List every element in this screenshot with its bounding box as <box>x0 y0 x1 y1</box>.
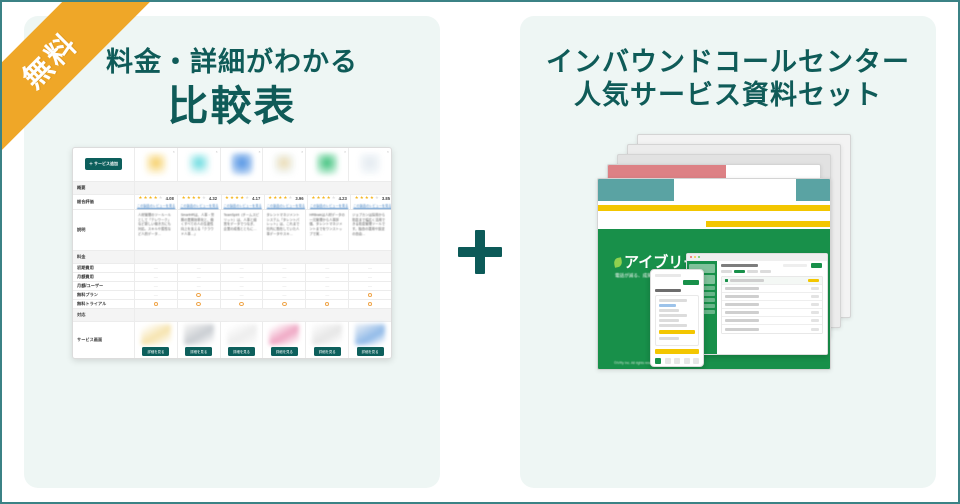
add-service-cell: ＋ サービス追加 <box>73 148 135 181</box>
value-cell: — <box>135 282 178 290</box>
item-badge <box>811 303 819 306</box>
detail-button[interactable]: 詳細を見る <box>357 347 384 356</box>
table-row: 月額費用 — — — — — — <box>73 273 391 282</box>
description-cell: タレントマネジメントシステム「タレントパレット」は、これまで社内に散在していた人… <box>263 210 306 250</box>
search-input <box>783 264 807 268</box>
detail-button[interactable]: 詳細を見る <box>185 347 212 356</box>
mobile-mockup <box>650 269 704 367</box>
service-logo-icon <box>231 153 253 175</box>
close-icon[interactable]: × <box>387 150 389 154</box>
item-label <box>725 311 759 314</box>
empty-value: — <box>325 283 329 288</box>
star-icon: ★ <box>202 196 206 201</box>
value-cell: — <box>135 273 178 281</box>
service-logo-icon <box>316 153 338 175</box>
plus-icon <box>458 230 502 274</box>
close-icon[interactable]: × <box>301 150 303 154</box>
description-text: ジョブカンは採用から勤怠まで幅広く活用できる勤怠管理ツールです。独自の運用や設定… <box>351 212 389 248</box>
value-cell <box>263 300 306 308</box>
section-spacer <box>135 309 391 321</box>
value-cell <box>349 291 391 299</box>
filter-chip <box>721 270 732 273</box>
section-label: 対応 <box>73 309 135 321</box>
rating-cells: ★★★★★4.08 この製品のレビューを見る ★★★★★4.32 この製品のレビ… <box>135 195 392 209</box>
detail-button[interactable]: 詳細を見る <box>271 347 298 356</box>
value-cell: — <box>221 282 264 290</box>
empty-value: — <box>240 283 244 288</box>
empty-value: — <box>282 283 286 288</box>
item-badge <box>811 328 819 331</box>
value-cell: — <box>306 291 349 299</box>
value-cell: — <box>135 291 178 299</box>
star-icon: ★ <box>283 196 287 201</box>
screenshot-cell: 詳細を見る <box>221 322 264 358</box>
item-label <box>725 295 759 298</box>
screenshot-cell: 詳細を見る <box>306 322 349 358</box>
empty-value: — <box>154 292 158 297</box>
section-label: 料金 <box>73 251 135 263</box>
review-link[interactable]: この製品のレビューを見る <box>180 203 218 208</box>
description-cell: 人材管理のツールールとして「テレワーク」など新しい働き方にも対応。スキルや属性な… <box>135 210 178 250</box>
rating-value: 3.85 <box>382 196 390 201</box>
review-link[interactable]: この製品のレビューを見る <box>224 203 262 208</box>
screenshot-cells: 詳細を見る 詳細を見る 詳細を見る 詳細を見る 詳細を見る 詳細を見る <box>135 322 391 358</box>
row-label: 初期費用 <box>73 264 135 272</box>
description-cells: 人材管理のツールールとして「テレワーク」など新しい働き方にも対応。スキルや属性な… <box>135 210 391 250</box>
service-screenshot-thumb <box>355 324 385 345</box>
empty-value: — <box>197 274 201 279</box>
list-item <box>722 301 822 309</box>
item-badge <box>811 287 819 290</box>
row-label: 無料プラン <box>73 291 135 299</box>
star-icon: ★ <box>182 196 186 201</box>
tab-icon <box>655 358 661 364</box>
table-row: 無料トライアル <box>73 300 391 309</box>
rating-cell: ★★★★★3.85 この製品のレビューを見る <box>351 195 392 209</box>
item-badge <box>811 319 819 322</box>
tab-icon <box>684 358 690 364</box>
detail-button[interactable]: 詳細を見る <box>142 347 169 356</box>
review-link[interactable]: この製品のレビューを見る <box>353 203 391 208</box>
mobile-tabbar <box>655 358 699 364</box>
star-rating: ★★★★★4.08 <box>138 196 173 201</box>
rating-cell: ★★★★★3.96 この製品のレビューを見る <box>265 195 308 209</box>
spacer-cell <box>135 182 391 194</box>
available-circle-icon <box>368 302 373 306</box>
empty-value: — <box>368 274 372 279</box>
rating-cell: ★★★★★4.32 この製品のレビューを見る <box>178 195 221 209</box>
value-cell: — <box>263 273 306 281</box>
star-icon: ★ <box>316 196 320 201</box>
value-cells: — — — — — — <box>135 282 391 290</box>
review-link[interactable]: この製品のレビューを見る <box>310 203 348 208</box>
description-cell: TeamSpirit（チームスピリット）は、人事と経営をデータでつなぎ、企業の成… <box>221 210 264 250</box>
add-service-button[interactable]: ＋ サービス追加 <box>85 158 122 170</box>
comparison-table-screenshot: ＋ サービス追加 × × × × × × 概要 <box>72 147 392 359</box>
item-label <box>725 287 759 290</box>
star-icon: ★ <box>235 196 239 201</box>
mobile-card <box>655 295 699 346</box>
left-panel-comparison-table: 料金・詳細がわかる 比較表 ＋ サービス追加 × × × × × × <box>24 16 440 488</box>
row-label: 説明 <box>73 210 135 250</box>
list-item <box>722 309 822 317</box>
screenshot-cell: 詳細を見る <box>349 322 391 358</box>
rating-value: 4.08 <box>166 196 174 201</box>
logo-cells: × × × × × × <box>135 148 391 181</box>
empty-value: — <box>154 265 158 270</box>
table-row: 月額/ユーザー — — — — — — <box>73 282 391 291</box>
service-logo-icon <box>273 153 295 175</box>
detail-button[interactable]: 詳細を見る <box>228 347 255 356</box>
value-cell: — <box>349 264 391 272</box>
review-link[interactable]: この製品のレビューを見る <box>137 203 175 208</box>
item-icon <box>725 279 728 282</box>
value-cell: — <box>349 273 391 281</box>
cover-band-teal-left <box>598 179 674 201</box>
filter-chips <box>721 270 823 273</box>
value-cell: — <box>221 273 264 281</box>
review-link[interactable]: この製品のレビューを見る <box>267 203 305 208</box>
value-cell: — <box>263 264 306 272</box>
service-screenshot-thumb <box>184 324 214 345</box>
value-cell: — <box>178 264 221 272</box>
value-cell: — <box>306 282 349 290</box>
table-row: 説明 人材管理のツールールとして「テレワーク」など新しい働き方にも対応。スキルや… <box>73 210 391 251</box>
value-cells: — — — — — — <box>135 273 391 281</box>
filter-chip <box>747 270 758 273</box>
list-item <box>722 325 822 333</box>
tab-icon <box>665 358 671 364</box>
star-icon: ★ <box>355 196 359 201</box>
value-cells <box>135 300 391 308</box>
item-label <box>730 279 764 282</box>
empty-value: — <box>368 265 372 270</box>
mobile-brand-chip <box>683 280 699 285</box>
service-screenshot-thumb <box>227 324 257 345</box>
star-icon: ★ <box>327 196 331 201</box>
item-badge <box>811 311 819 314</box>
screenshot-cell: 詳細を見る <box>263 322 306 358</box>
spacer-cell <box>135 309 391 321</box>
table-section-row: 概要 <box>73 182 391 195</box>
window-controls <box>690 256 700 258</box>
value-cell <box>178 300 221 308</box>
description-cell: HRBrainは人材データの一元管理から人事評価、タレントマネジメントまでをワン… <box>306 210 349 250</box>
star-icon: ★ <box>149 196 153 201</box>
star-icon: ★ <box>322 196 326 201</box>
rating-value: 4.17 <box>252 196 260 201</box>
empty-value: — <box>325 274 329 279</box>
empty-value: — <box>154 274 158 279</box>
description-text: 人材管理のツールールとして「テレワーク」など新しい働き方にも対応。スキルや属性な… <box>137 212 175 248</box>
empty-value: — <box>325 265 329 270</box>
value-cell <box>221 300 264 308</box>
spacer-cell <box>135 251 391 263</box>
star-icon: ★ <box>332 196 336 201</box>
right-panel-document-set: インバウンドコールセンター 人気サービス資料セット <box>520 16 936 488</box>
table-row: サービス画面 詳細を見る 詳細を見る 詳細を見る 詳細を見る 詳細を見る 詳細を… <box>73 322 391 358</box>
rating-cell: ★★★★★4.17 この製品のレビューを見る <box>222 195 265 209</box>
star-icon: ★ <box>192 196 196 201</box>
available-circle-icon <box>325 302 330 306</box>
star-icon: ★ <box>245 196 249 201</box>
star-icon: ★ <box>240 196 244 201</box>
mobile-title <box>655 289 681 293</box>
document-stack: アイブリー 電話が減る、成果が生まれる ©IVRy Inc. All right… <box>597 130 859 350</box>
empty-value: — <box>240 274 244 279</box>
value-cell <box>349 300 391 308</box>
list-item <box>722 285 822 293</box>
value-cell: — <box>263 291 306 299</box>
dashboard-title <box>721 264 758 267</box>
description-cell: SmartHRは、人事・労務の業務効率化と、働くすべての人の生産性向上を支える「… <box>178 210 221 250</box>
available-circle-icon <box>368 293 373 297</box>
table-row: 総合評価 ★★★★★4.08 この製品のレビューを見る ★★★★★4.32 この… <box>73 195 391 210</box>
service-logo-cell: × <box>221 148 264 181</box>
screenshot-cell: 詳細を見る <box>178 322 221 358</box>
value-cell: — <box>349 282 391 290</box>
tab-icon <box>674 358 680 364</box>
star-rating: ★★★★★4.23 <box>311 196 346 201</box>
description-text: HRBrainは人材データの一元管理から人事評価、タレントマネジメントまでをワン… <box>308 212 346 248</box>
value-cell: — <box>221 291 264 299</box>
service-logo-cell: × <box>306 148 349 181</box>
value-cells: — — — — — — <box>135 264 391 272</box>
close-icon[interactable]: × <box>344 150 346 154</box>
item-label <box>725 303 759 306</box>
detail-button[interactable]: 詳細を見る <box>314 347 341 356</box>
screenshot-cell: 詳細を見る <box>135 322 178 358</box>
star-rating: ★★★★★3.85 <box>355 196 390 201</box>
row-label: 月額費用 <box>73 273 135 281</box>
cover-band-yellow-second <box>706 221 831 227</box>
star-icon: ★ <box>288 196 292 201</box>
mobile-cta-button <box>659 330 695 335</box>
rating-value: 3.96 <box>295 196 303 201</box>
star-icon: ★ <box>187 196 191 201</box>
empty-value: — <box>282 274 286 279</box>
close-icon <box>690 256 692 258</box>
star-icon: ★ <box>365 196 369 201</box>
mobile-text-line <box>659 319 679 321</box>
service-logo-cell: × <box>135 148 178 181</box>
star-icon: ★ <box>375 196 379 201</box>
dashboard-list <box>721 276 823 334</box>
rating-value: 4.32 <box>209 196 217 201</box>
document-cover: アイブリー 電話が減る、成果が生まれる ©IVRy Inc. All right… <box>597 178 831 370</box>
star-icon: ★ <box>154 196 158 201</box>
filter-chip <box>760 270 771 273</box>
section-spacer <box>135 182 391 194</box>
item-badge <box>811 295 819 298</box>
value-cell: — <box>135 264 178 272</box>
service-logo-cell: × <box>349 148 391 181</box>
value-cell: — <box>306 264 349 272</box>
service-logo-cell: × <box>178 148 221 181</box>
description-text: SmartHRは、人事・労務の業務効率化と、働くすべての人の生産性向上を支える「… <box>180 212 218 248</box>
description-cell: ジョブカンは採用から勤怠まで幅広く活用できる勤怠管理ツールです。独自の運用や設定… <box>349 210 391 250</box>
mobile-text-line <box>659 309 679 311</box>
cover-green-area: アイブリー 電話が減る、成果が生まれる ©IVRy Inc. All right… <box>598 229 831 370</box>
service-logo-icon <box>145 153 167 175</box>
cover-band-yellow-top <box>598 205 831 211</box>
empty-value: — <box>282 265 286 270</box>
table-section-row: 対応 <box>73 309 391 322</box>
service-screenshot-thumb <box>141 324 171 345</box>
promo-banner: 無料 料金・詳細がわかる 比較表 ＋ サービス追加 × × × × <box>0 0 960 504</box>
close-icon[interactable]: × <box>258 150 260 154</box>
empty-value: — <box>197 283 201 288</box>
empty-value: — <box>325 292 329 297</box>
star-rating: ★★★★★3.96 <box>268 196 303 201</box>
service-screenshot-thumb <box>269 324 299 345</box>
star-icon: ★ <box>225 196 229 201</box>
list-item <box>722 277 822 285</box>
star-icon: ★ <box>360 196 364 201</box>
available-circle-icon <box>196 302 201 306</box>
star-rating: ★★★★★4.17 <box>225 196 260 201</box>
left-heading-line2: 比較表 <box>168 81 297 131</box>
empty-value: — <box>240 292 244 297</box>
dashboard-mockup <box>686 253 828 355</box>
right-heading-line2: 人気サービス資料セット <box>568 79 888 112</box>
table-section-row: 料金 <box>73 251 391 264</box>
row-label: サービス画面 <box>73 322 135 358</box>
right-heading-line1: インバウンドコールセンター <box>540 46 916 79</box>
star-icon: ★ <box>268 196 272 201</box>
value-cell: — <box>178 282 221 290</box>
service-logo-icon <box>188 153 210 175</box>
star-icon: ★ <box>230 196 234 201</box>
value-cell: — <box>178 273 221 281</box>
dashboard-main <box>717 261 827 354</box>
value-cell <box>306 300 349 308</box>
star-icon: ★ <box>278 196 282 201</box>
star-rating: ★★★★★4.32 <box>182 196 217 201</box>
tab-icon <box>693 358 699 364</box>
rating-cell: ★★★★★4.23 この製品のレビューを見る <box>308 195 351 209</box>
item-badge <box>808 279 819 282</box>
primary-action-button <box>811 263 822 268</box>
section-label: 概要 <box>73 182 135 194</box>
available-circle-icon <box>154 302 159 306</box>
description-text: タレントマネジメントシステム「タレントパレット」は、これまで社内に散在していた人… <box>265 212 303 248</box>
list-item <box>722 293 822 301</box>
row-label: 月額/ユーザー <box>73 282 135 290</box>
mobile-statusbar <box>655 274 681 277</box>
list-item <box>722 317 822 325</box>
value-cell: — <box>221 264 264 272</box>
empty-value: — <box>197 265 201 270</box>
empty-value: — <box>368 283 372 288</box>
description-text: TeamSpirit（チームスピリット）は、人事と経営をデータでつなぎ、企業の成… <box>223 212 261 248</box>
rating-value: 4.23 <box>339 196 347 201</box>
star-icon: ★ <box>370 196 374 201</box>
empty-value: — <box>282 292 286 297</box>
maximize-icon <box>698 256 700 258</box>
available-circle-icon <box>196 293 201 297</box>
window-titlebar <box>687 254 828 261</box>
section-spacer <box>135 251 391 263</box>
value-cells: — — — — <box>135 291 391 299</box>
left-heading-line1: 料金・詳細がわかる <box>106 46 358 79</box>
mobile-cta-button <box>655 349 699 354</box>
available-circle-icon <box>282 302 287 306</box>
star-icon: ★ <box>138 196 142 201</box>
value-cell: — <box>306 273 349 281</box>
star-icon: ★ <box>159 196 163 201</box>
item-label <box>725 319 759 322</box>
row-label: 無料トライアル <box>73 300 135 308</box>
table-row: 初期費用 — — — — — — <box>73 264 391 273</box>
empty-value: — <box>240 265 244 270</box>
service-logo-icon <box>359 153 381 175</box>
mobile-text-line <box>659 324 687 326</box>
leaf-icon <box>613 257 623 267</box>
mobile-text-line <box>659 299 687 301</box>
row-label: 総合評価 <box>73 195 135 209</box>
plus-divider <box>440 212 520 292</box>
star-icon: ★ <box>273 196 277 201</box>
cover-band-teal-right <box>796 179 830 201</box>
filter-chip-active <box>734 270 745 273</box>
service-logo-cell: × <box>263 148 306 181</box>
available-circle-icon <box>239 302 244 306</box>
star-icon: ★ <box>197 196 201 201</box>
service-screenshot-thumb <box>312 324 342 345</box>
mobile-link-line <box>659 304 676 306</box>
mobile-text-line <box>659 314 687 316</box>
value-cell <box>135 300 178 308</box>
close-icon[interactable]: × <box>216 150 218 154</box>
mobile-text-line <box>659 337 679 339</box>
minimize-icon <box>694 256 696 258</box>
rating-cell: ★★★★★4.08 この製品のレビューを見る <box>135 195 178 209</box>
close-icon[interactable]: × <box>173 150 175 154</box>
table-header-row: ＋ サービス追加 × × × × × × <box>73 148 391 182</box>
star-icon: ★ <box>143 196 147 201</box>
value-cell <box>178 291 221 299</box>
empty-value: — <box>154 283 158 288</box>
table-row: 無料プラン — — — — <box>73 291 391 300</box>
value-cell: — <box>263 282 306 290</box>
item-label <box>725 328 759 331</box>
star-icon: ★ <box>311 196 315 201</box>
